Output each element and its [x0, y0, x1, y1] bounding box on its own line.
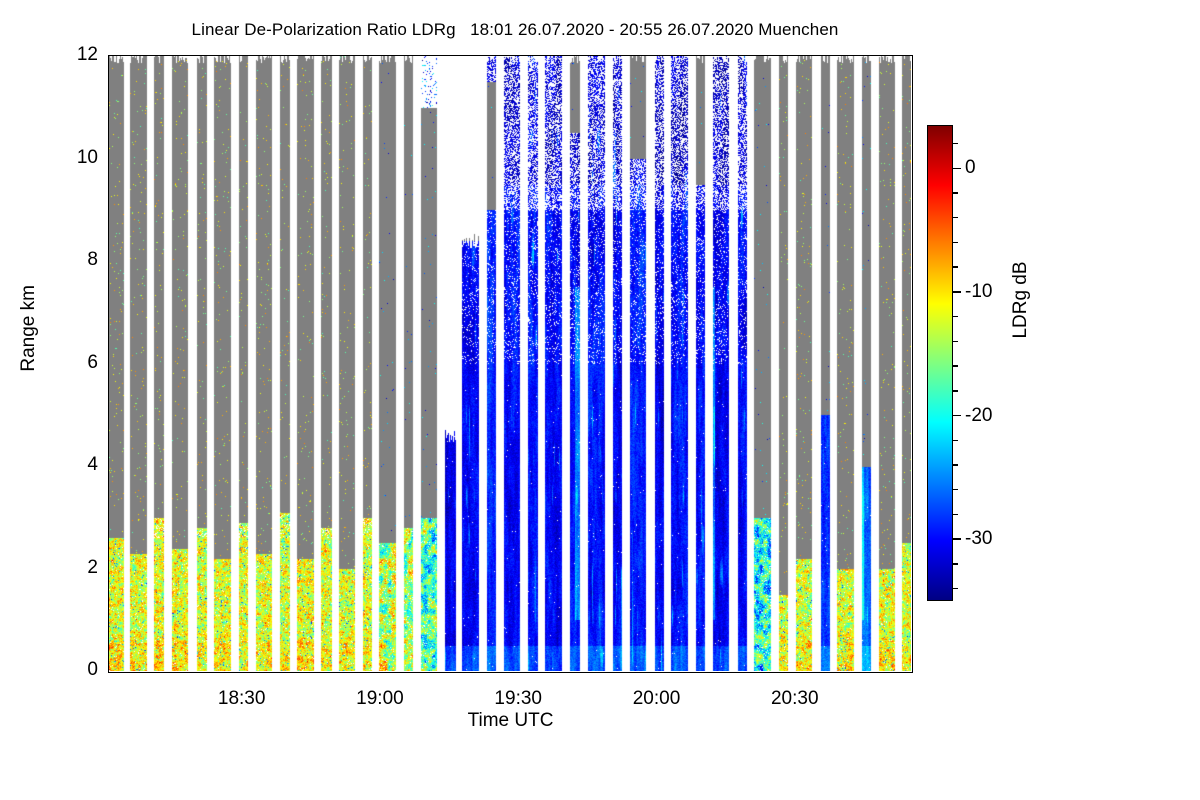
- x-axis-minor-tick: [334, 672, 336, 673]
- y-axis-label: Range km: [18, 285, 40, 372]
- heatmap-canvas: [109, 56, 911, 671]
- y-axis-tick-label: 4: [87, 455, 98, 474]
- x-axis-tick-label: 19:00: [356, 689, 404, 708]
- x-axis-minor-tick: [703, 55, 705, 56]
- colorbar-tick-label: -10: [965, 282, 992, 301]
- colorbar-minor-tick: [953, 217, 958, 219]
- lidar-ldr-figure: Linear De-Polarization Ratio LDRg 18:01 …: [0, 0, 1200, 800]
- x-axis-tick: [795, 672, 797, 673]
- colorbar-tick: [953, 168, 961, 170]
- x-axis-minor-tick: [703, 672, 705, 673]
- x-axis-minor-tick: [288, 672, 290, 673]
- x-axis-minor-tick: [472, 672, 474, 673]
- x-axis-minor-tick: [196, 672, 198, 673]
- colorbar-minor-tick: [953, 514, 958, 516]
- x-axis-minor-tick: [887, 55, 889, 56]
- y-axis-tick: [912, 158, 913, 160]
- y-axis-minor-tick: [108, 645, 109, 647]
- x-axis-minor-tick: [841, 55, 843, 56]
- colorbar-tick: [953, 415, 961, 417]
- x-axis-minor-tick: [749, 672, 751, 673]
- colorbar: 0-10-20-30: [927, 125, 953, 601]
- x-axis-minor-tick: [887, 672, 889, 673]
- y-axis-tick: [912, 465, 913, 467]
- y-axis-minor-tick: [912, 388, 913, 390]
- y-axis-tick: [108, 363, 109, 365]
- y-axis-minor-tick: [108, 81, 109, 83]
- colorbar-minor-tick: [953, 266, 958, 268]
- colorbar-minor-tick: [953, 588, 958, 590]
- colorbar-minor-tick: [953, 464, 958, 466]
- y-axis-tick: [912, 55, 913, 57]
- y-axis-minor-tick: [108, 593, 109, 595]
- x-axis-tick: [657, 55, 659, 56]
- colorbar-tick-label: -30: [965, 529, 992, 548]
- x-axis-tick: [380, 55, 382, 56]
- y-axis-tick: [108, 465, 109, 467]
- y-axis-tick: [912, 670, 913, 672]
- colorbar-minor-tick: [953, 563, 958, 565]
- colorbar-label: LDRg dB: [1010, 261, 1032, 338]
- colorbar-minor-tick: [953, 316, 958, 318]
- y-axis-tick-label: 0: [87, 660, 98, 679]
- y-axis-minor-tick: [108, 235, 109, 237]
- x-axis-tick: [242, 672, 244, 673]
- y-axis-minor-tick: [108, 337, 109, 339]
- y-axis-tick-label: 2: [87, 558, 98, 577]
- colorbar-minor-tick: [953, 365, 958, 367]
- x-axis-minor-tick: [749, 55, 751, 56]
- colorbar-minor-tick: [953, 489, 958, 491]
- x-axis-tick: [518, 55, 520, 56]
- y-axis-minor-tick: [108, 311, 109, 313]
- x-axis-tick: [518, 672, 520, 673]
- colorbar-tick-label: 0: [965, 158, 976, 177]
- y-axis-tick-label: 12: [77, 45, 98, 64]
- y-axis-tick-label: 6: [87, 353, 98, 372]
- y-axis-tick: [108, 670, 109, 672]
- y-axis-tick: [108, 55, 109, 57]
- y-axis-minor-tick: [912, 286, 913, 288]
- y-axis-minor-tick: [912, 183, 913, 185]
- x-axis-tick-label: 20:30: [771, 689, 819, 708]
- y-axis-minor-tick: [912, 593, 913, 595]
- y-axis-tick: [108, 260, 109, 262]
- y-axis-minor-tick: [912, 414, 913, 416]
- y-axis-minor-tick: [912, 81, 913, 83]
- y-axis-minor-tick: [108, 440, 109, 442]
- colorbar-minor-tick: [953, 242, 958, 244]
- y-axis-tick: [108, 568, 109, 570]
- x-axis-minor-tick: [565, 672, 567, 673]
- x-axis-tick-label: 20:00: [633, 689, 681, 708]
- y-axis-minor-tick: [912, 235, 913, 237]
- colorbar-tick: [953, 291, 961, 293]
- y-axis-minor-tick: [912, 106, 913, 108]
- y-axis-tick-label: 8: [87, 250, 98, 269]
- x-axis-minor-tick: [150, 672, 152, 673]
- x-axis-label: Time UTC: [108, 710, 913, 732]
- y-axis-minor-tick: [912, 516, 913, 518]
- y-axis-minor-tick: [912, 645, 913, 647]
- y-axis-minor-tick: [912, 542, 913, 544]
- colorbar-minor-tick: [953, 143, 958, 145]
- colorbar-minor-tick: [953, 341, 958, 343]
- colorbar-tick: [953, 538, 961, 540]
- x-axis-minor-tick: [334, 55, 336, 56]
- y-axis-tick: [912, 260, 913, 262]
- colorbar-gradient: [927, 125, 953, 601]
- colorbar-tick-label: -20: [965, 406, 992, 425]
- y-axis-minor-tick: [912, 440, 913, 442]
- colorbar-minor-tick: [953, 440, 958, 442]
- y-axis-tick: [912, 568, 913, 570]
- y-axis-tick-label: 10: [77, 148, 98, 167]
- y-axis-minor-tick: [108, 491, 109, 493]
- x-axis-tick: [380, 672, 382, 673]
- y-axis-minor-tick: [108, 414, 109, 416]
- y-axis-minor-tick: [108, 106, 109, 108]
- y-axis-tick: [912, 363, 913, 365]
- y-axis-minor-tick: [912, 337, 913, 339]
- x-axis-tick: [657, 672, 659, 673]
- x-axis-minor-tick: [472, 55, 474, 56]
- y-axis-minor-tick: [108, 286, 109, 288]
- x-axis-minor-tick: [150, 55, 152, 56]
- page-title: Linear De-Polarization Ratio LDRg 18:01 …: [0, 20, 1030, 40]
- x-axis-minor-tick: [611, 55, 613, 56]
- y-axis-minor-tick: [912, 491, 913, 493]
- colorbar-minor-tick: [953, 192, 958, 194]
- y-axis-minor-tick: [912, 132, 913, 134]
- x-axis-minor-tick: [611, 672, 613, 673]
- y-axis-minor-tick: [108, 619, 109, 621]
- x-axis-minor-tick: [841, 672, 843, 673]
- x-axis-tick-label: 19:30: [494, 689, 542, 708]
- x-axis-minor-tick: [426, 55, 428, 56]
- y-axis-minor-tick: [912, 311, 913, 313]
- x-axis-tick: [795, 55, 797, 56]
- x-axis-tick: [242, 55, 244, 56]
- x-axis-minor-tick: [426, 672, 428, 673]
- y-axis-minor-tick: [108, 209, 109, 211]
- y-axis-minor-tick: [108, 183, 109, 185]
- y-axis-minor-tick: [108, 132, 109, 134]
- plot-area: [108, 55, 913, 673]
- x-axis-minor-tick: [565, 55, 567, 56]
- y-axis-minor-tick: [912, 209, 913, 211]
- x-axis-minor-tick: [288, 55, 290, 56]
- y-axis-minor-tick: [912, 619, 913, 621]
- y-axis-minor-tick: [108, 388, 109, 390]
- colorbar-minor-tick: [953, 390, 958, 392]
- y-axis-minor-tick: [108, 542, 109, 544]
- y-axis-tick: [108, 158, 109, 160]
- x-axis-tick-label: 18:30: [218, 689, 266, 708]
- x-axis-minor-tick: [196, 55, 198, 56]
- y-axis-minor-tick: [108, 516, 109, 518]
